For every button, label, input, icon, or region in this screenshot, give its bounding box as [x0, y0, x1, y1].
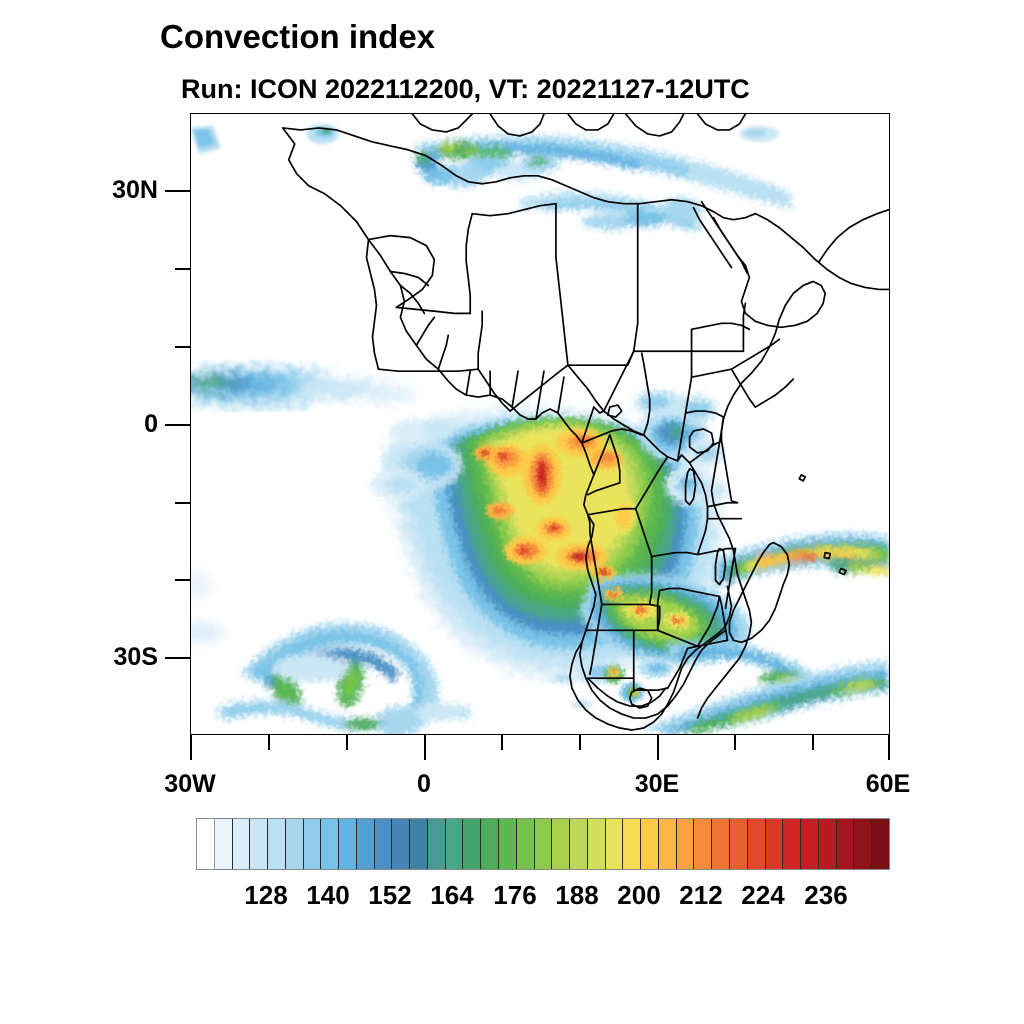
xtick-30E: [657, 735, 659, 760]
colorbar-segment: [570, 819, 588, 869]
colorbar-segment: [304, 819, 322, 869]
colorbar-segment: [286, 819, 304, 869]
colorbar-segment: [357, 819, 375, 869]
colorbar-segment: [872, 819, 889, 869]
colorbar-segment: [748, 819, 766, 869]
ytick-0: [165, 424, 190, 426]
colorbar-segment: [446, 819, 464, 869]
colorbar-segment: [481, 819, 499, 869]
colorbar-segment: [375, 819, 393, 869]
colorbar-tick-label: 236: [804, 880, 847, 911]
colorbar-segment: [463, 819, 481, 869]
xtick-20W: [268, 735, 270, 750]
xlabel-30W: 30W: [130, 770, 250, 799]
colorbar-segment: [712, 819, 730, 869]
xtick-60E: [888, 735, 890, 760]
colorbar-tick-label: 128: [244, 880, 287, 911]
colorbar-tick-label: 188: [555, 880, 598, 911]
colorbar-tick-label: 176: [493, 880, 536, 911]
colorbar-segment: [659, 819, 677, 869]
colorbar-segment: [392, 819, 410, 869]
colorbar-segment: [606, 819, 624, 869]
colorbar-segment: [517, 819, 535, 869]
colorbar-tick-labels: 128140152164176188200212224236: [0, 880, 1024, 916]
xtick-0: [424, 735, 426, 760]
ylabel-30N: 30N: [0, 176, 158, 205]
page-title: Convection index: [160, 18, 435, 56]
xlabel-60E: 60E: [828, 770, 948, 799]
colorbar-segment: [837, 819, 855, 869]
xtick-30W: [190, 735, 192, 760]
colorbar-segment: [801, 819, 819, 869]
xtick-10E: [501, 735, 503, 750]
colorbar-tick-label: 140: [306, 880, 349, 911]
colorbar-segment: [268, 819, 286, 869]
colorbar-segment: [410, 819, 428, 869]
colorbar-segment: [819, 819, 837, 869]
ytick-30N: [165, 190, 190, 192]
colorbar-tick-label: 200: [617, 880, 660, 911]
map-canvas: [191, 114, 889, 734]
colorbar-segment: [250, 819, 268, 869]
xtick-20E: [579, 735, 581, 750]
xtick-40E: [734, 735, 736, 750]
ytick-20S: [175, 579, 190, 581]
ylabel-30S: 30S: [0, 643, 158, 672]
colorbar-segment: [197, 819, 215, 869]
colorbar-segment: [783, 819, 801, 869]
ytick-10N: [175, 346, 190, 348]
colorbar-tick-label: 152: [368, 880, 411, 911]
colorbar-segment: [641, 819, 659, 869]
xtick-50E: [812, 735, 814, 750]
colorbar-segment: [552, 819, 570, 869]
colorbar-segment: [215, 819, 233, 869]
colorbar-tick-label: 164: [430, 880, 473, 911]
colorbar-segment: [694, 819, 712, 869]
colorbar-segment: [623, 819, 641, 869]
colorbar-segment: [233, 819, 251, 869]
colorbar-segment: [730, 819, 748, 869]
xlabel-30E: 30E: [597, 770, 717, 799]
colorbar-segment: [499, 819, 517, 869]
colorbar[interactable]: [196, 818, 890, 870]
ylabel-0: 0: [0, 410, 158, 439]
colorbar-segment: [428, 819, 446, 869]
figure-subtitle: Run: ICON 2022112200, VT: 20221127-12UTC: [181, 74, 750, 105]
colorbar-segment: [321, 819, 339, 869]
ytick-30S: [165, 657, 190, 659]
ytick-20N: [175, 268, 190, 270]
colorbar-segment: [588, 819, 606, 869]
xlabel-0: 0: [364, 770, 484, 799]
map-plot-area[interactable]: [190, 113, 890, 735]
colorbar-segment: [677, 819, 695, 869]
convection-index-figure: Convection index Run: ICON 2022112200, V…: [0, 0, 1024, 1024]
xtick-10W: [346, 735, 348, 750]
colorbar-tick-label: 212: [679, 880, 722, 911]
colorbar-segment: [854, 819, 872, 869]
colorbar-segment: [339, 819, 357, 869]
colorbar-segment: [535, 819, 553, 869]
colorbar-segment: [766, 819, 784, 869]
ytick-10S: [175, 502, 190, 504]
colorbar-tick-label: 224: [741, 880, 784, 911]
